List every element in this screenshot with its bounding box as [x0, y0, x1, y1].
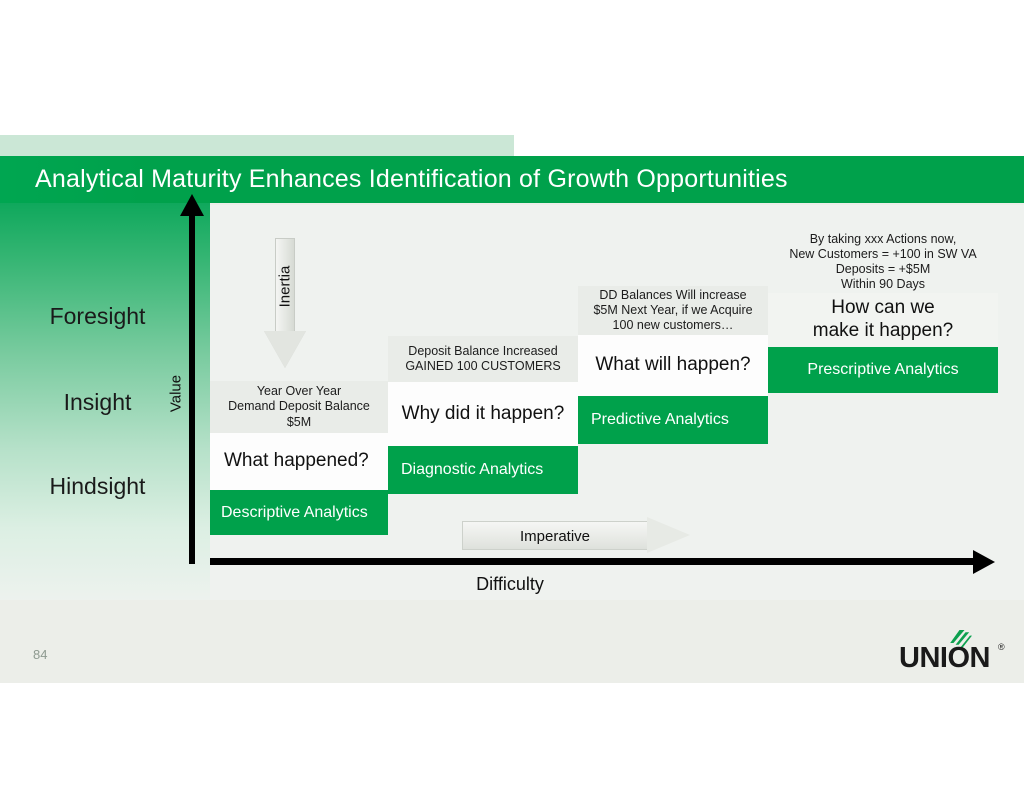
column-question: What happened?: [210, 433, 388, 490]
y-axis-line: [189, 212, 195, 564]
inertia-label: Inertia: [277, 242, 294, 332]
page-title: Analytical Maturity Enhances Identificat…: [35, 165, 788, 194]
inertia-arrow-icon: Inertia: [264, 238, 306, 368]
maturity-column-prescriptive[interactable]: By taking xxx Actions now,New Customers …: [768, 231, 998, 393]
column-caption: Year Over YearDemand Deposit Balance$5M: [210, 381, 388, 433]
x-axis-arrow-icon: [973, 550, 995, 574]
column-label-prescriptive-analytics: Prescriptive Analytics: [768, 347, 998, 393]
x-axis-title: Difficulty: [430, 574, 590, 595]
imperative-label: Imperative: [462, 528, 648, 545]
imperative-arrow-icon: Imperative: [462, 517, 690, 554]
registered-trademark-icon: ®: [998, 642, 1005, 652]
union-wordmark: UNION: [899, 642, 990, 675]
x-axis-line: [210, 558, 975, 565]
column-question: Why did it happen?: [388, 382, 578, 446]
slide-footer-background: [0, 683, 1024, 791]
column-question: What will happen?: [578, 335, 768, 396]
y-axis-title: Value: [168, 364, 185, 424]
column-label-descriptive-analytics: Descriptive Analytics: [210, 490, 388, 535]
header-accent-band: [0, 135, 514, 156]
column-label-diagnostic-analytics: Diagnostic Analytics: [388, 446, 578, 494]
column-caption: DD Balances Will increase$5M Next Year, …: [578, 286, 768, 335]
maturity-column-predictive[interactable]: DD Balances Will increase$5M Next Year, …: [578, 286, 768, 444]
imperative-arrow-head: [647, 517, 690, 553]
y-tier-hindsight: Hindsight: [0, 473, 195, 500]
column-caption: By taking xxx Actions now,New Customers …: [768, 231, 998, 293]
y-tier-insight: Insight: [0, 389, 195, 416]
page-number: 84: [33, 647, 47, 662]
inertia-arrow-head: [264, 331, 306, 368]
slide-top-background: [0, 0, 1024, 136]
column-question: How can wemake it happen?: [768, 293, 998, 347]
maturity-column-descriptive[interactable]: Year Over YearDemand Deposit Balance$5M …: [210, 381, 388, 535]
y-tier-foresight: Foresight: [0, 303, 195, 330]
union-logo: UNION ®: [899, 630, 1009, 672]
column-caption: Deposit Balance IncreasedGAINED 100 CUST…: [388, 336, 578, 382]
column-label-predictive-analytics: Predictive Analytics: [578, 396, 768, 444]
slide-canvas: Analytical Maturity Enhances Identificat…: [0, 0, 1024, 791]
maturity-column-diagnostic[interactable]: Deposit Balance IncreasedGAINED 100 CUST…: [388, 336, 578, 494]
